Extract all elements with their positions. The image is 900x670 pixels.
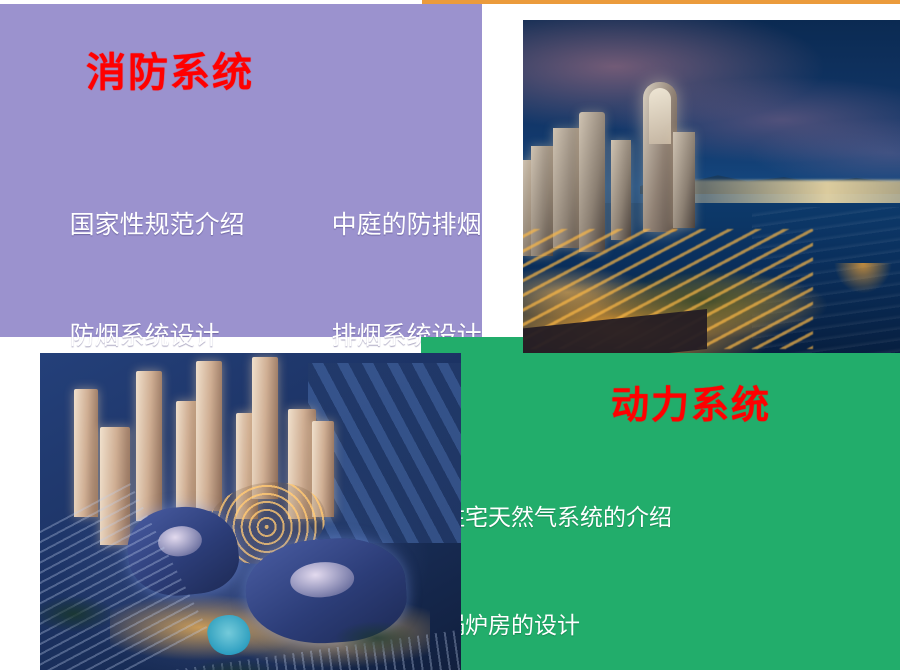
panel-power-body: 住宅天然气系统的介绍 锅炉房的设计 燃油/燃气锅炉的实例讲解 锅炉房对土建、给排…	[442, 427, 894, 670]
list-item: 住宅天然气系统的介绍	[442, 499, 894, 535]
harbour-light-reflection	[823, 263, 900, 343]
slide-canvas: 消防系统 国家性规范介绍中庭的防排烟 防烟系统设计排烟系统设计 楼梯间、前室的防…	[0, 0, 900, 670]
mall-residential-tower	[74, 389, 98, 517]
mall-landscaping	[40, 566, 461, 670]
panel-power-system: 动力系统 住宅天然气系统的介绍 锅炉房的设计 燃油/燃气锅炉的实例讲解 锅炉房对…	[421, 337, 900, 670]
list-item: 锅炉房的设计	[442, 607, 894, 643]
list-item: 国家性规范介绍中庭的防排烟	[14, 170, 472, 207]
list-item-left: 防烟系统设计	[70, 318, 332, 355]
mall-residential-tower	[252, 357, 278, 499]
panel-fire-protection: 消防系统 国家性规范介绍中庭的防排烟 防烟系统设计排烟系统设计 楼梯间、前室的防…	[0, 4, 482, 337]
photo-harbour-night	[523, 20, 900, 353]
panel-power-title: 动力系统	[541, 386, 841, 428]
mall-residential-tower	[196, 361, 222, 511]
list-item-left: 国家性规范介绍	[70, 207, 332, 244]
mall-residential-tower	[136, 371, 162, 521]
list-item: 防烟系统设计排烟系统设计	[14, 281, 472, 318]
list-item-right: 中庭的防排烟	[332, 207, 482, 244]
photo-mall-aerial-night	[40, 353, 461, 670]
top-accent-strip	[422, 0, 900, 4]
panel-fire-title: 消防系统	[0, 51, 340, 95]
